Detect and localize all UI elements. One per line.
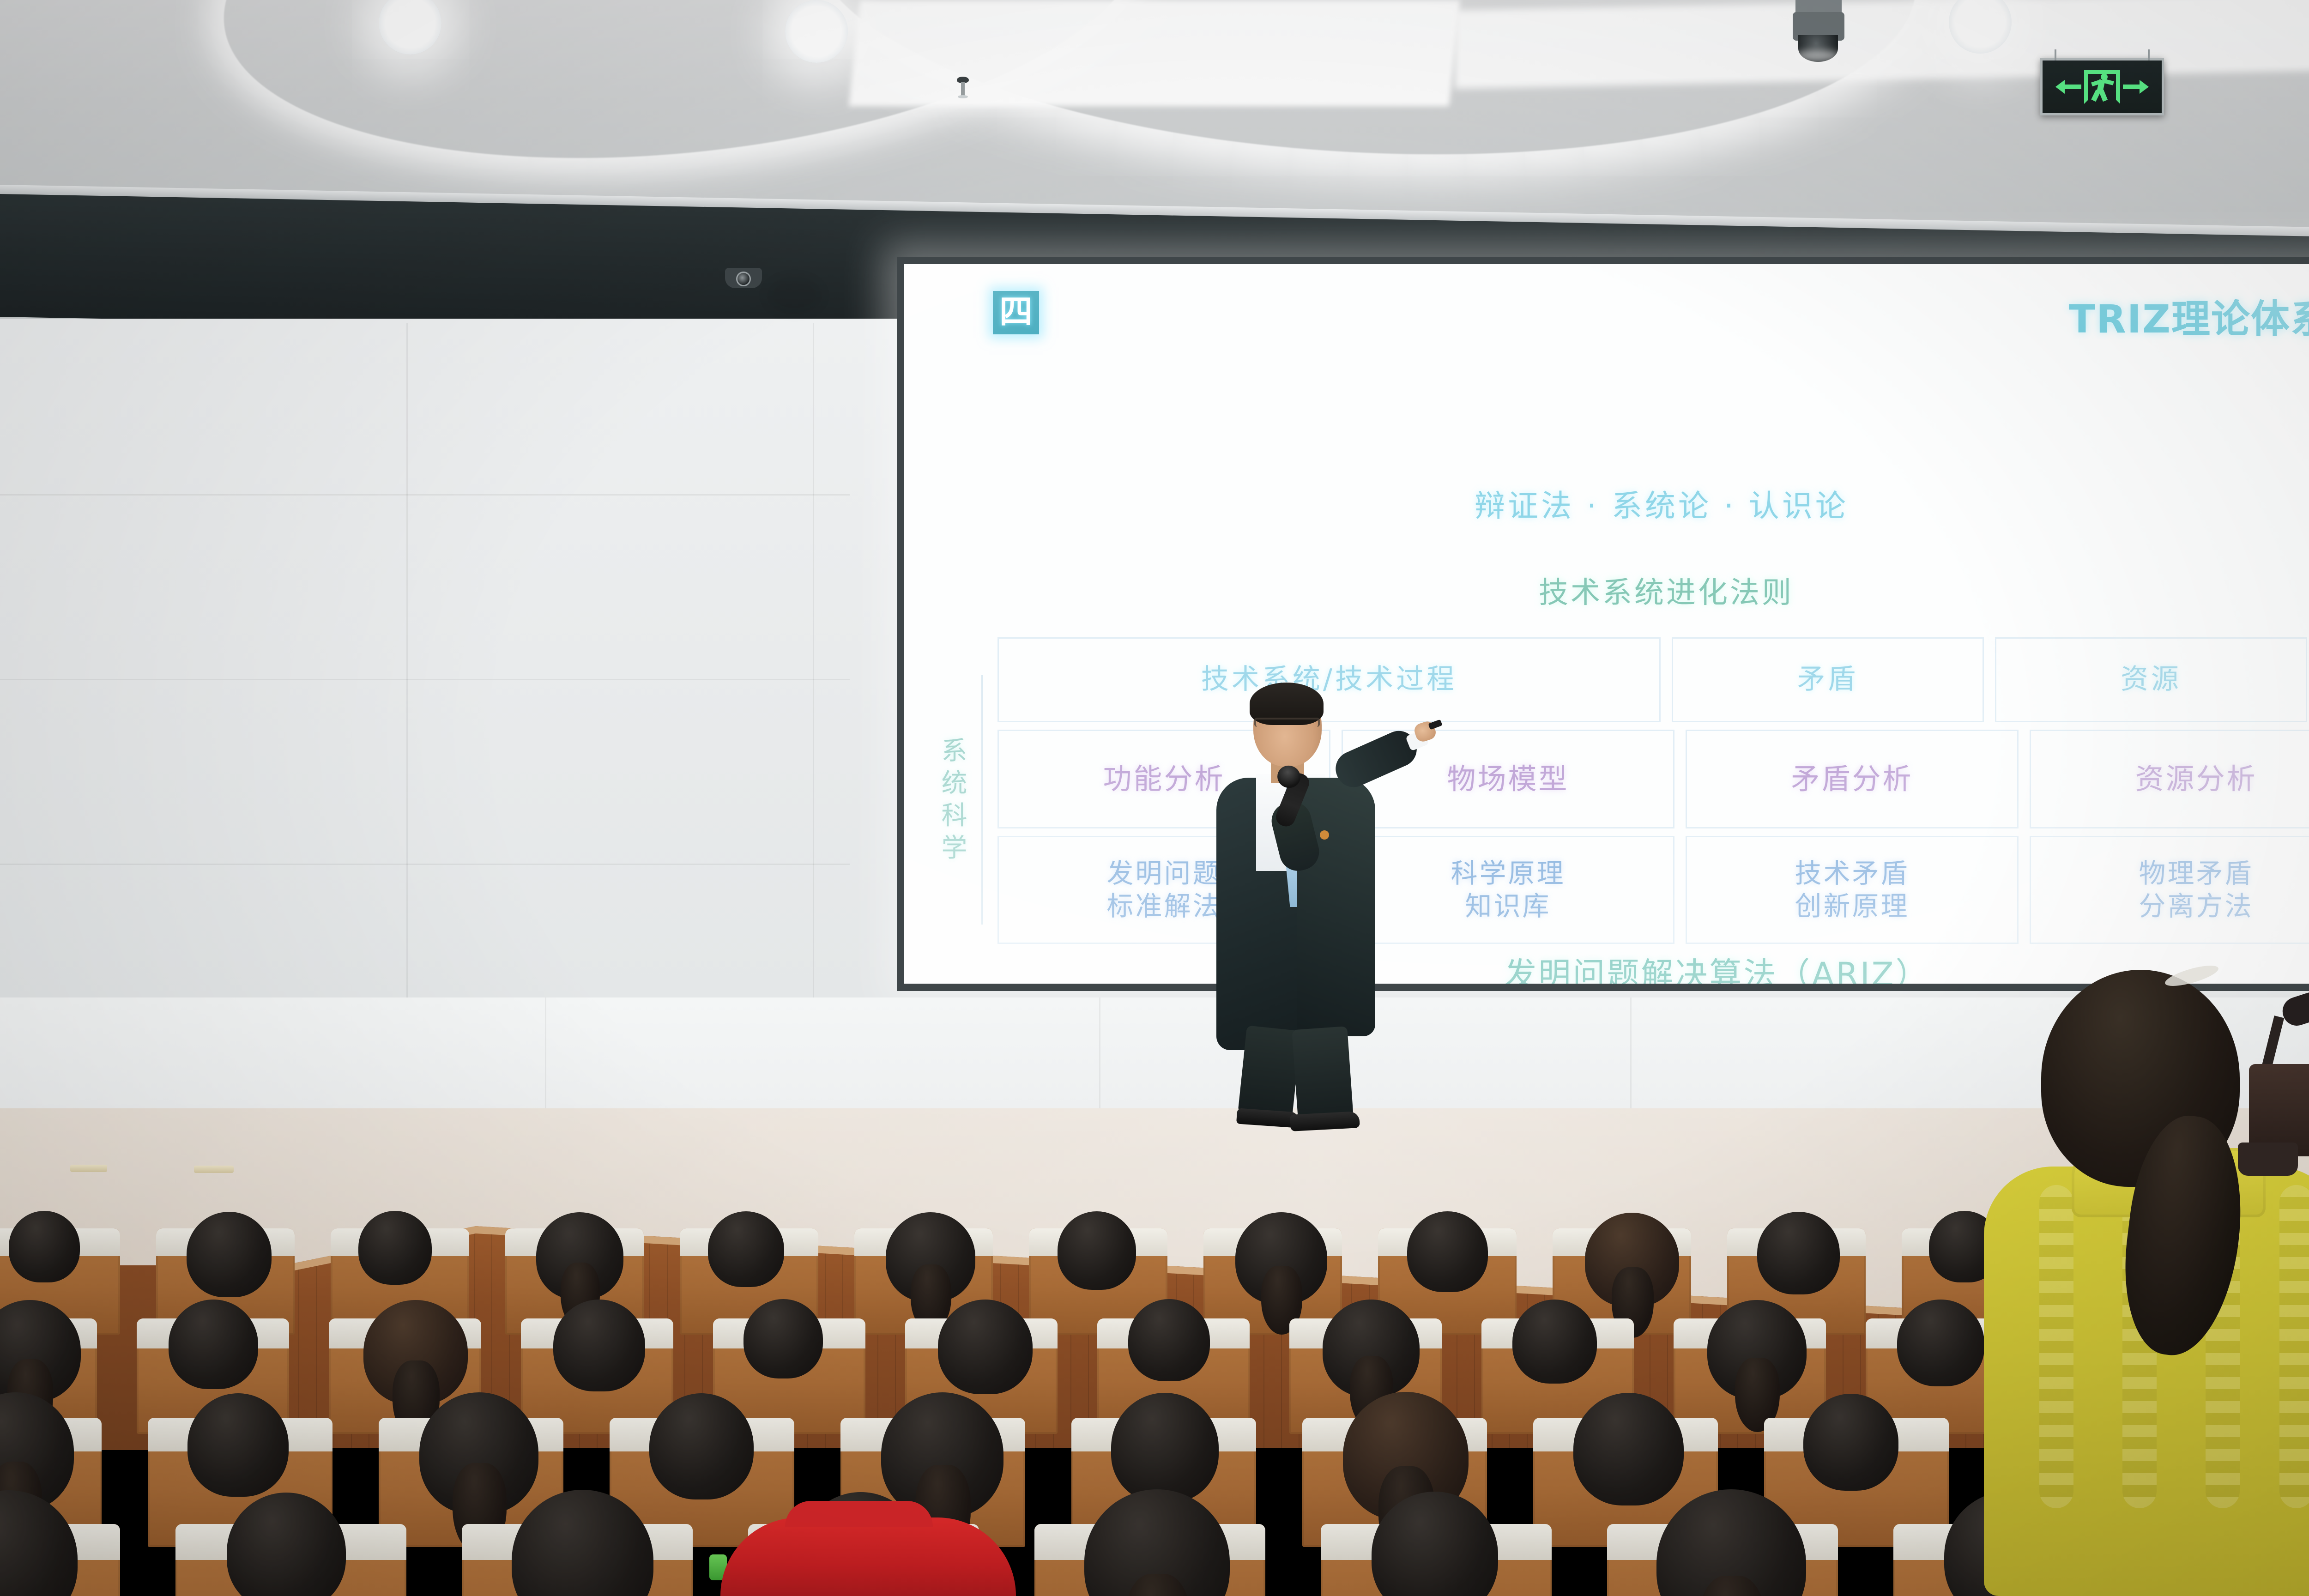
wall-seam — [813, 323, 814, 1062]
sprinkler-icon — [957, 77, 969, 105]
wall-seam — [0, 494, 850, 496]
slide-table: 系 统 科 学 技术系统/技术过程 矛盾 资源 — [923, 634, 2309, 948]
downlight-icon — [785, 0, 848, 63]
audience-head — [187, 1212, 272, 1297]
wall-seam — [406, 323, 408, 1062]
audience-head — [1573, 1393, 1684, 1505]
wall-camera-shadow — [767, 277, 822, 314]
table-cell: 矛盾分析 — [1686, 730, 2019, 828]
lapel-badge — [1320, 830, 1329, 840]
audience-head — [1512, 1300, 1597, 1384]
audience-head — [649, 1393, 754, 1500]
table-row: 发明问题 标准解法 科学原理 知识库 技术矛盾 创新原理 物理矛盾 分离方法 — [992, 832, 2309, 948]
table-cell: 资源 — [1995, 637, 2307, 722]
cove-light-panel-right — [1455, 0, 2309, 89]
projection-screen-frame: 四 TRIZ理论体系 辩证法 · 系统论 · 认识论 技术系统进化法则 系 统 … — [897, 257, 2309, 991]
presenter-shoe — [1290, 1111, 1360, 1131]
side-column-char: 学 — [942, 835, 967, 861]
camcorder-mic-icon — [2279, 989, 2309, 1029]
floor-marker — [70, 1165, 107, 1172]
wall-camera-icon — [725, 268, 762, 288]
table-row: 功能分析 物场模型 矛盾分析 资源分析 — [992, 726, 2309, 832]
videographer — [1981, 949, 2309, 1596]
audience-head — [187, 1393, 289, 1497]
wall-seam — [0, 864, 850, 865]
wall-seam — [0, 679, 850, 680]
slide-row-philosophy: 辩证法 · 系统论 · 认识论 — [1200, 481, 2123, 526]
exit-sign — [2040, 58, 2164, 115]
audience-head — [9, 1211, 80, 1282]
projection-screen: 四 TRIZ理论体系 辩证法 · 系统论 · 认识论 技术系统进化法则 系 统 … — [904, 264, 2309, 984]
audience-head — [1897, 1300, 1984, 1386]
camcorder-icon — [2198, 995, 2309, 1193]
presenter-legs — [1239, 1028, 1377, 1120]
section-number-badge: 四 — [993, 291, 1039, 334]
audience-head — [1757, 1212, 1840, 1294]
slide-row-evolution: 技术系统进化法则 — [1227, 569, 2105, 611]
side-column-char: 统 — [942, 771, 967, 797]
side-column-char: 科 — [942, 803, 967, 829]
table-cell: 物理矛盾 分离方法 — [2030, 836, 2309, 944]
slide-content: 四 TRIZ理论体系 辩证法 · 系统论 · 认识论 技术系统进化法则 系 统 … — [904, 264, 2309, 984]
table-cell: 资源分析 — [2030, 730, 2309, 828]
lecture-hall-scene: 四 TRIZ理论体系 辩证法 · 系统论 · 认识论 技术系统进化法则 系 统 … — [0, 0, 2309, 1596]
table-cell: 矛盾 — [1672, 637, 1984, 722]
audience-seating — [0, 1201, 2309, 1596]
eyeglasses-icon — [1254, 718, 1320, 727]
audience-head — [169, 1300, 258, 1389]
slide-title: TRIZ理论体系 — [2069, 288, 2309, 344]
audience-head — [358, 1211, 432, 1285]
audience-head — [1111, 1393, 1219, 1502]
arrow-left-icon — [2055, 80, 2081, 94]
audience-head — [553, 1300, 645, 1391]
slide-table-side-column: 系 统 科 学 — [927, 675, 983, 925]
audience-head — [1128, 1299, 1210, 1381]
table-row: 技术系统/技术过程 矛盾 资源 — [992, 634, 2309, 726]
running-man-exit-icon — [2084, 70, 2120, 104]
arrow-right-icon — [2123, 80, 2149, 94]
cove-light-panel-center — [849, 0, 1460, 106]
table-cell: 技术矛盾 创新原理 — [1686, 836, 2019, 944]
audience-head — [1058, 1211, 1136, 1290]
dome-camera-icon — [1792, 0, 1847, 63]
presenter — [1199, 663, 1430, 1130]
audience-head — [708, 1211, 784, 1288]
audience-member-red-jacket — [720, 1496, 1016, 1596]
audience-head — [743, 1299, 823, 1378]
audience-head — [1407, 1211, 1487, 1292]
audience-head — [1803, 1394, 1898, 1491]
audience-head — [938, 1300, 1033, 1394]
side-column-char: 系 — [942, 738, 967, 764]
floor-marker — [194, 1166, 234, 1173]
